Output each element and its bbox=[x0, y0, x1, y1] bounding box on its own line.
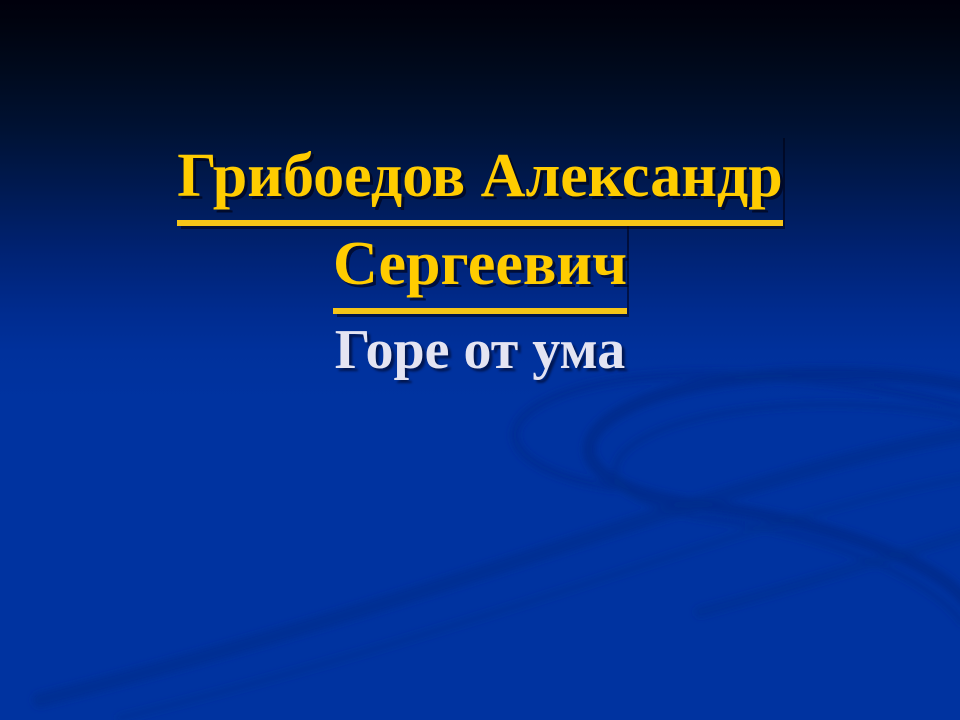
title-line-2-text: Сергеевич bbox=[333, 221, 627, 314]
title-line-2: Сергеевич bbox=[0, 221, 960, 314]
presentation-slide: Грибоедов Александр Сергеевич Горе от ум… bbox=[0, 0, 960, 720]
title-line-1-text: Грибоедов Александр bbox=[177, 133, 783, 226]
title-line-1: Грибоедов Александр bbox=[0, 133, 960, 226]
slide-subtitle: Горе от ума bbox=[0, 312, 960, 388]
